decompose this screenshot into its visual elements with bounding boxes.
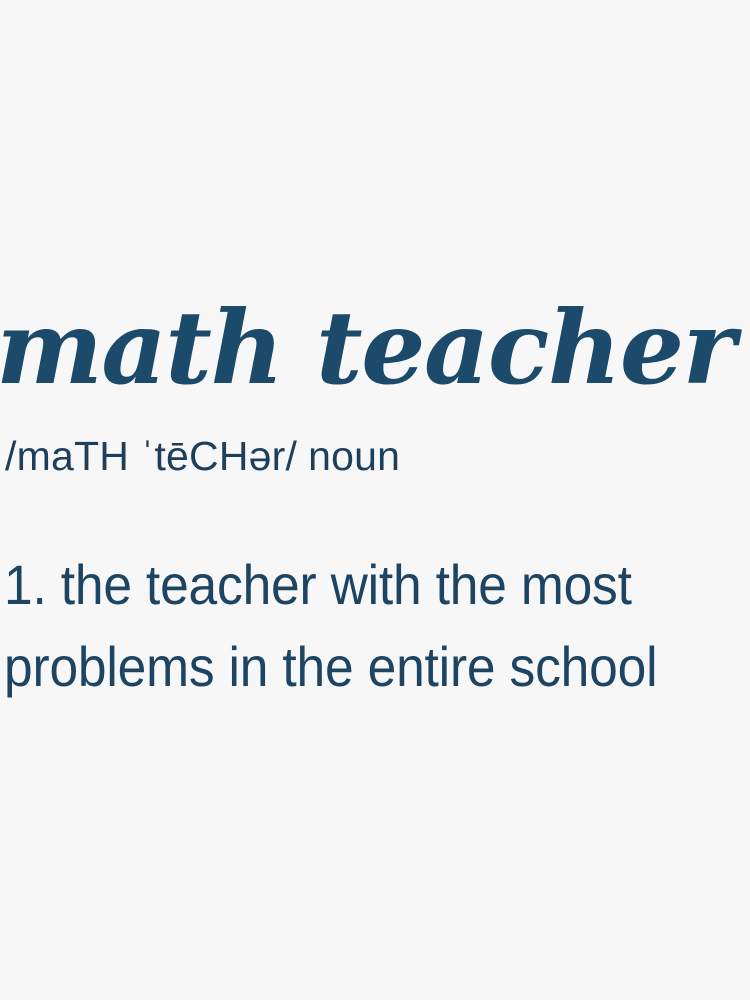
definition-line-1: 1. the teacher with the most [4, 544, 690, 626]
definition-text-line-2: problems in the entire school [4, 635, 657, 698]
headword: math teacher [0, 296, 750, 400]
part-of-speech-label: noun [308, 433, 400, 479]
phonetic-respelling: /maTH ˈtēCHər/ [5, 433, 297, 479]
definition-block: 1. the teacher with the most problems in… [4, 544, 750, 708]
pronunciation-line: /maTH ˈtēCHər/noun [5, 433, 745, 479]
definition-line-2: problems in the entire school [4, 626, 690, 708]
sticker-canvas: math teacher /maTH ˈtēCHər/noun 1. the t… [0, 0, 750, 1000]
definition-text-line-1: the teacher with the most [61, 553, 632, 616]
sense-number: 1. [4, 553, 47, 616]
